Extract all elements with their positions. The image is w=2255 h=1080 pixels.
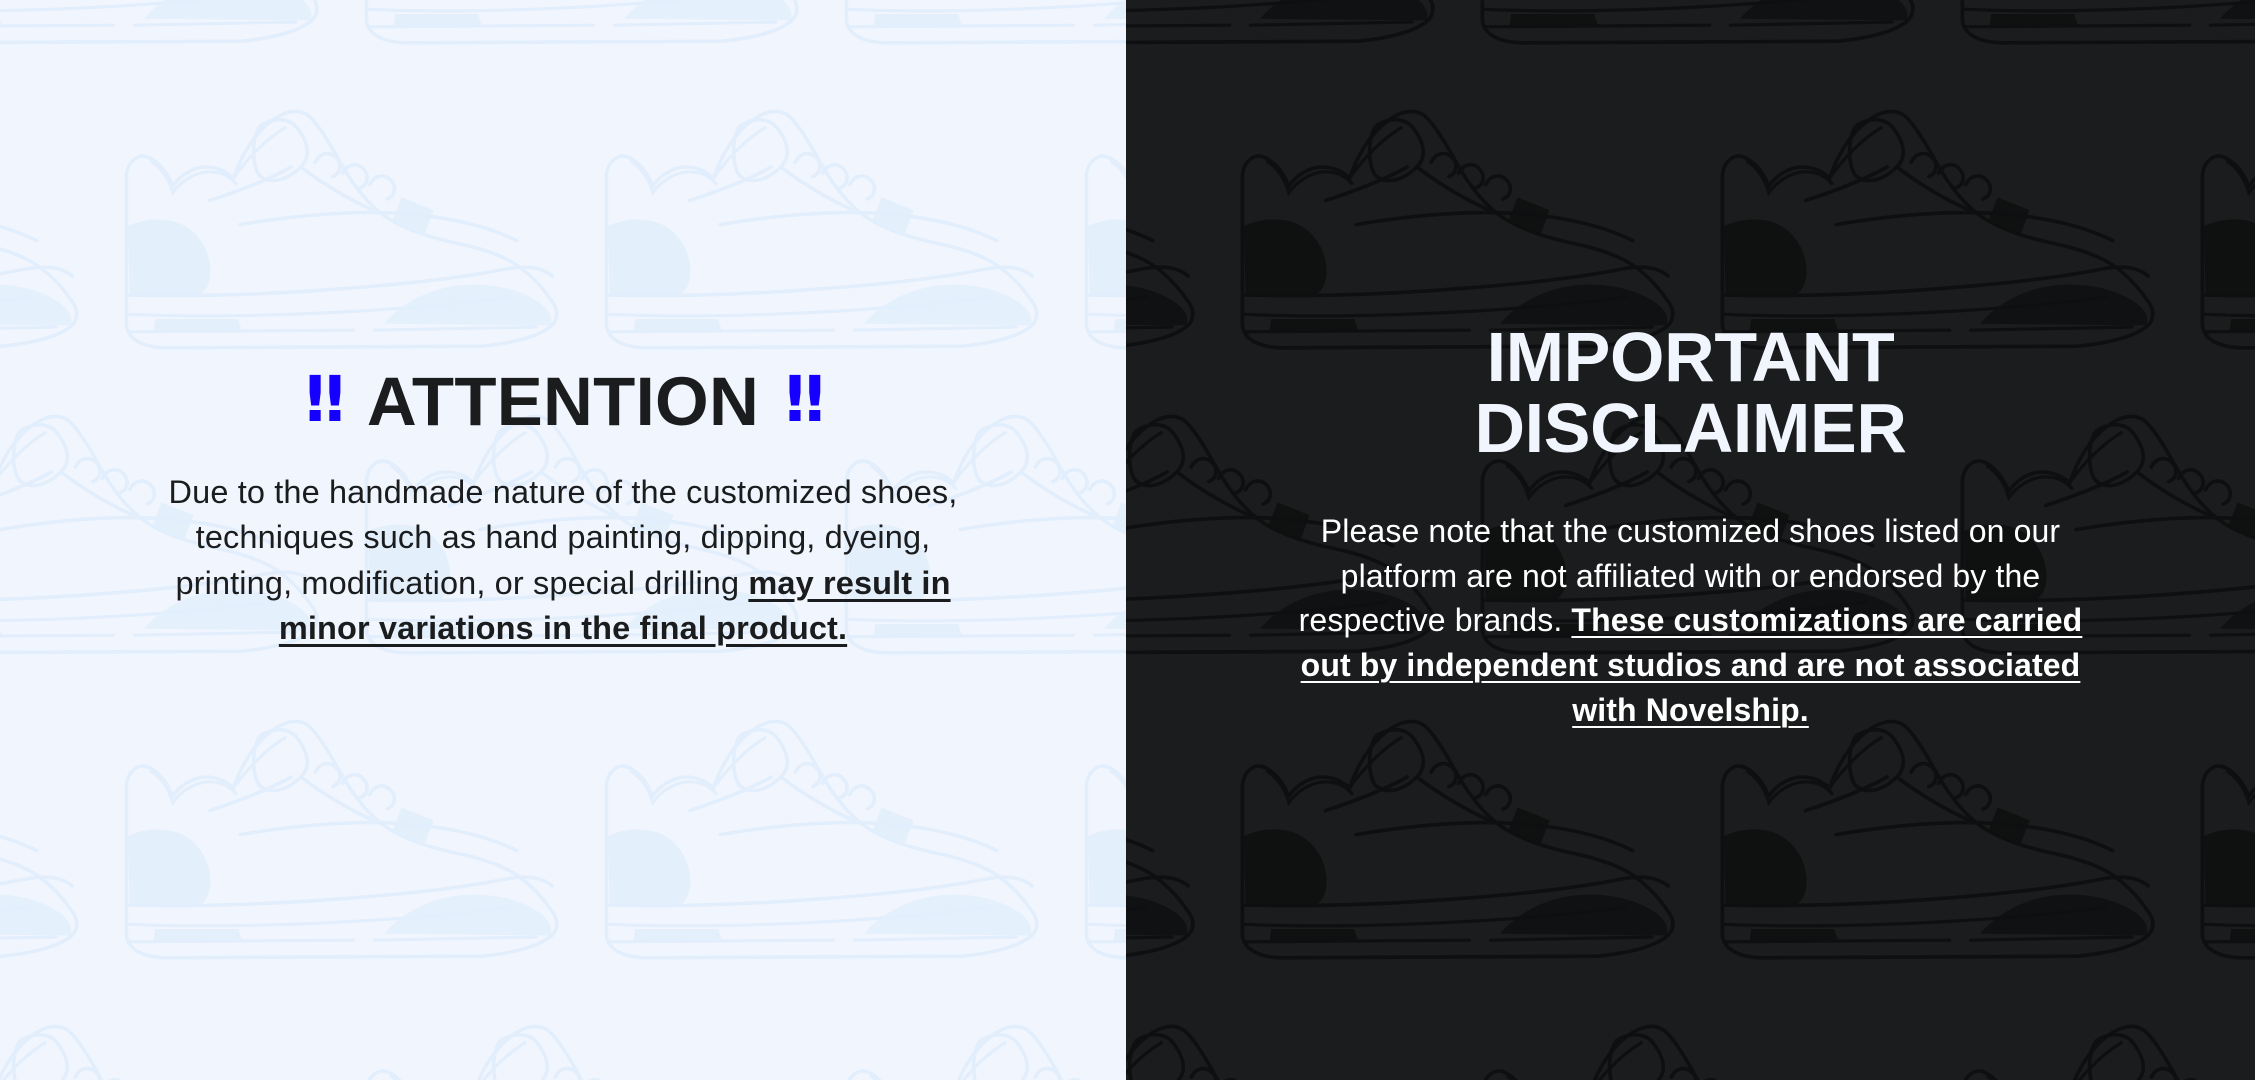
disclaimer-banner: ‼ ATTENTION ‼ Due to the handmade nature… [0,0,2255,1080]
attention-heading-row: ‼ ATTENTION ‼ [305,368,821,436]
disclaimer-body-text: Please note that the customized shoes li… [1276,509,2106,733]
attention-body-text: Due to the handmade nature of the custom… [168,470,958,652]
double-exclamation-right-icon: ‼ [785,368,821,431]
attention-content: ‼ ATTENTION ‼ Due to the handmade nature… [0,0,1126,652]
attention-panel: ‼ ATTENTION ‼ Due to the handmade nature… [0,0,1126,1080]
disclaimer-title-line2: DISCLAIMER [1474,393,1906,464]
disclaimer-content: IMPORTANT DISCLAIMER Please note that th… [1126,0,2255,733]
double-exclamation-left-icon: ‼ [305,368,341,431]
disclaimer-title: IMPORTANT DISCLAIMER [1474,322,1906,465]
attention-title: ATTENTION [367,368,759,436]
disclaimer-title-line1: IMPORTANT [1474,322,1906,393]
disclaimer-panel: IMPORTANT DISCLAIMER Please note that th… [1126,0,2255,1080]
